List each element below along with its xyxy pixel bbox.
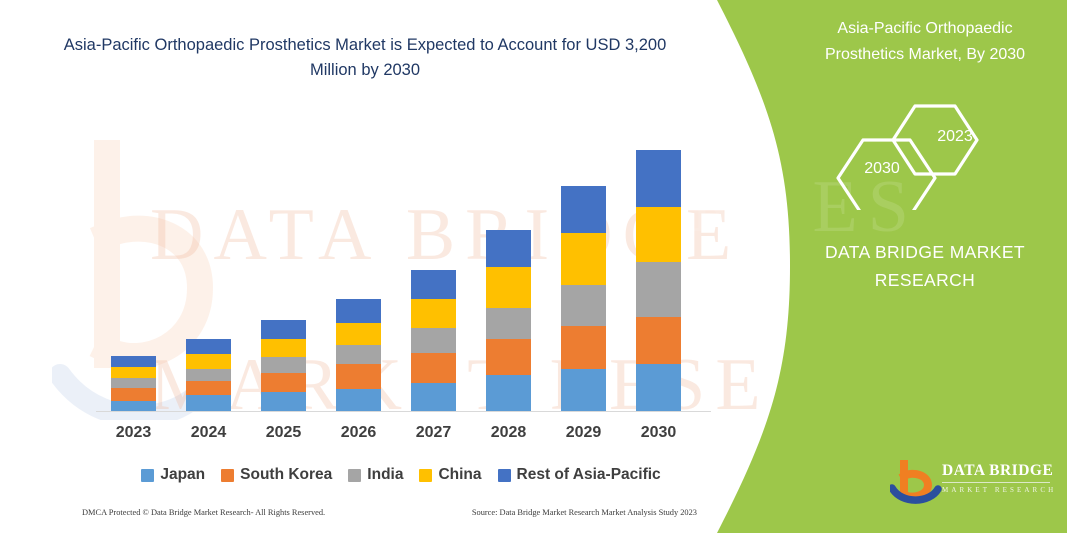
bar-segment-japan[interactable] <box>186 395 231 412</box>
bar-segment-south-korea[interactable] <box>111 388 156 401</box>
stacked-bar[interactable] <box>336 299 381 412</box>
bar-segment-china[interactable] <box>111 367 156 378</box>
x-axis-label-2030: 2030 <box>624 424 694 442</box>
bar-segment-india[interactable] <box>336 345 381 364</box>
bar-segment-china[interactable] <box>186 354 231 369</box>
bar-segment-south-korea[interactable] <box>336 364 381 389</box>
bar-segment-rest-of-asia-pacific[interactable] <box>411 270 456 299</box>
logo-text: DATA BRIDGE MARKET RESEARCH <box>942 462 1056 494</box>
company-logo: DATA BRIDGE MARKET RESEARCH <box>890 460 1060 510</box>
x-axis-line <box>96 411 711 412</box>
infographic-page: DATA BRIDGE MARKET RESEARCH Asia-Pacific… <box>0 0 1067 533</box>
legend-item-china[interactable]: China <box>419 466 481 484</box>
stacked-bar[interactable] <box>261 320 306 412</box>
legend-item-japan[interactable]: Japan <box>141 466 205 484</box>
bar-segment-japan[interactable] <box>561 369 606 412</box>
bar-segment-japan[interactable] <box>486 375 531 412</box>
bar-segment-rest-of-asia-pacific[interactable] <box>336 299 381 323</box>
legend-label: India <box>367 466 403 484</box>
bar-segment-india[interactable] <box>186 369 231 381</box>
bar-segment-china[interactable] <box>561 233 606 285</box>
bar-segment-india[interactable] <box>561 285 606 326</box>
legend-swatch-icon <box>419 469 432 482</box>
brand-panel: RI ES Asia-Pacific Orthopaedic Prostheti… <box>690 0 1067 533</box>
bar-segment-china[interactable] <box>261 339 306 357</box>
bar-segment-china[interactable] <box>636 207 681 262</box>
bar-segment-japan[interactable] <box>411 383 456 412</box>
legend-item-rest-of-asia-pacific[interactable]: Rest of Asia-Pacific <box>498 466 661 484</box>
chart-legend: JapanSouth KoreaIndiaChinaRest of Asia-P… <box>96 466 706 484</box>
brand-panel-company-name: DATA BRIDGE MARKET RESEARCH <box>800 238 1050 294</box>
bar-segment-rest-of-asia-pacific[interactable] <box>261 320 306 339</box>
bar-segment-india[interactable] <box>636 262 681 317</box>
logo-subtitle: MARKET RESEARCH <box>942 486 1056 494</box>
x-axis-label-2027: 2027 <box>399 424 469 442</box>
bar-segment-south-korea[interactable] <box>411 353 456 383</box>
bar-segment-south-korea[interactable] <box>486 339 531 375</box>
x-axis-label-2028: 2028 <box>474 424 544 442</box>
bar-segment-japan[interactable] <box>636 364 681 412</box>
stacked-bar[interactable] <box>486 230 531 412</box>
x-axis-label-2024: 2024 <box>174 424 244 442</box>
bar-group-2030[interactable] <box>636 150 681 412</box>
bar-segment-south-korea[interactable] <box>186 381 231 395</box>
bar-segment-china[interactable] <box>411 299 456 328</box>
legend-item-south-korea[interactable]: South Korea <box>221 466 332 484</box>
legend-label: Rest of Asia-Pacific <box>517 466 661 484</box>
bar-segment-rest-of-asia-pacific[interactable] <box>486 230 531 267</box>
x-axis-label-2029: 2029 <box>549 424 619 442</box>
hexagon-label-2023: 2023 <box>917 128 993 146</box>
logo-title: DATA BRIDGE <box>942 462 1056 480</box>
bar-segment-rest-of-asia-pacific[interactable] <box>561 186 606 233</box>
footer-copyright: DMCA Protected © Data Bridge Market Rese… <box>82 508 325 517</box>
x-axis-label-2026: 2026 <box>324 424 394 442</box>
bar-group-2027[interactable] <box>411 270 456 412</box>
x-axis-label-2023: 2023 <box>99 424 169 442</box>
bar-segment-china[interactable] <box>336 323 381 345</box>
bar-segment-south-korea[interactable] <box>561 326 606 369</box>
x-axis-label-2025: 2025 <box>249 424 319 442</box>
bar-segment-japan[interactable] <box>261 392 306 412</box>
bar-segment-japan[interactable] <box>336 389 381 412</box>
bar-segment-rest-of-asia-pacific[interactable] <box>111 356 156 367</box>
legend-label: Japan <box>160 466 205 484</box>
bar-group-2025[interactable] <box>261 320 306 412</box>
stacked-bar[interactable] <box>111 356 156 412</box>
stacked-bar[interactable] <box>636 150 681 412</box>
legend-swatch-icon <box>348 469 361 482</box>
x-axis-labels: 20232024202520262027202820292030 <box>96 424 696 448</box>
legend-swatch-icon <box>498 469 511 482</box>
chart-title: Asia-Pacific Orthopaedic Prosthetics Mar… <box>60 33 670 83</box>
bar-group-2028[interactable] <box>486 230 531 412</box>
logo-divider <box>942 482 1050 483</box>
hexagon-group: 2030 2023 <box>815 100 1055 210</box>
bar-segment-india[interactable] <box>111 378 156 388</box>
bar-segment-south-korea[interactable] <box>261 373 306 392</box>
legend-item-india[interactable]: India <box>348 466 403 484</box>
bar-segment-south-korea[interactable] <box>636 317 681 364</box>
bar-group-2029[interactable] <box>561 186 606 412</box>
bar-group-2023[interactable] <box>111 356 156 412</box>
bar-segment-rest-of-asia-pacific[interactable] <box>186 339 231 354</box>
chart-panel: DATA BRIDGE MARKET RESEARCH Asia-Pacific… <box>0 0 720 533</box>
bar-segment-india[interactable] <box>411 328 456 353</box>
stacked-bar[interactable] <box>411 270 456 412</box>
data-bridge-logo-icon <box>890 460 942 506</box>
footer: DMCA Protected © Data Bridge Market Rese… <box>82 508 697 517</box>
brand-panel-title: Asia-Pacific Orthopaedic Prosthetics Mar… <box>800 16 1050 68</box>
bar-segment-rest-of-asia-pacific[interactable] <box>636 150 681 207</box>
bar-segment-china[interactable] <box>486 267 531 308</box>
legend-swatch-icon <box>141 469 154 482</box>
legend-label: China <box>438 466 481 484</box>
footer-source: Source: Data Bridge Market Research Mark… <box>472 508 697 517</box>
plot-area <box>96 120 696 412</box>
stacked-bar[interactable] <box>186 339 231 412</box>
hexagon-label-2030: 2030 <box>842 160 922 178</box>
legend-label: South Korea <box>240 466 332 484</box>
bar-segment-india[interactable] <box>486 308 531 339</box>
hexagon-shapes-icon <box>815 100 1055 210</box>
bar-group-2024[interactable] <box>186 339 231 412</box>
legend-swatch-icon <box>221 469 234 482</box>
stacked-bar[interactable] <box>561 186 606 412</box>
bar-segment-india[interactable] <box>261 357 306 373</box>
bar-group-2026[interactable] <box>336 299 381 412</box>
